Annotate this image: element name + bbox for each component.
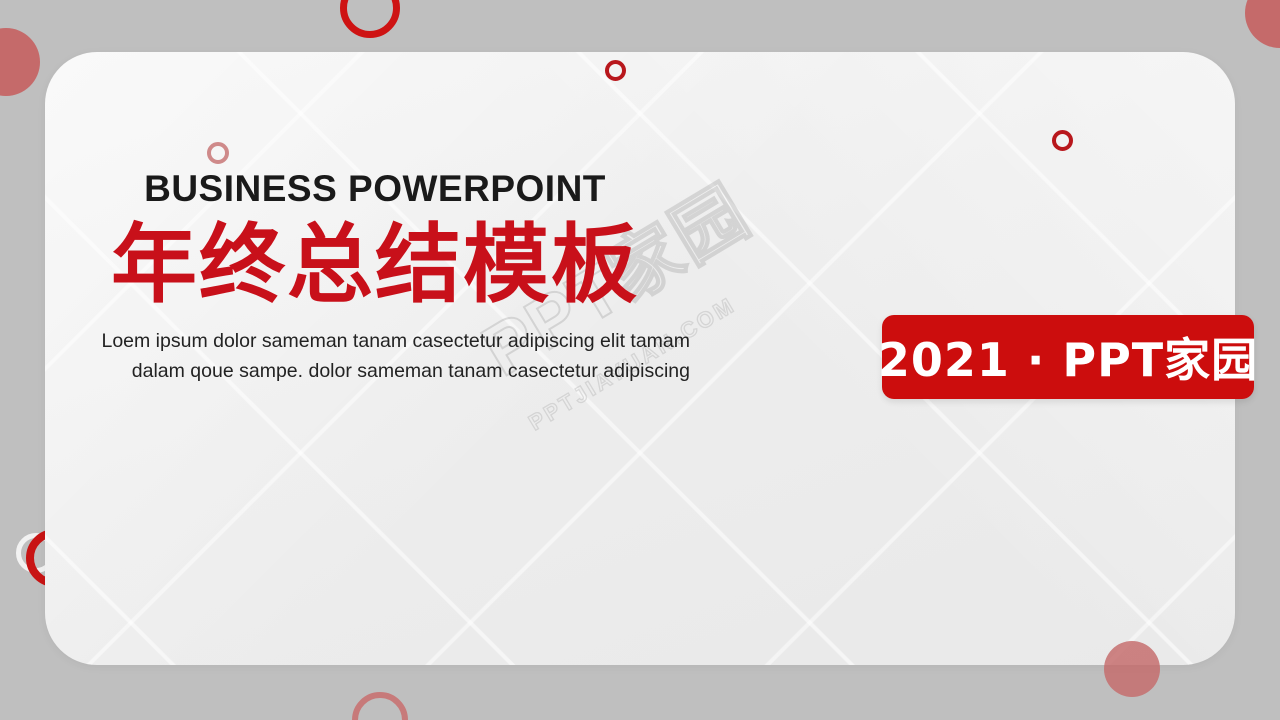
page-title: 年终总结模板 xyxy=(60,217,690,313)
description-text: Loem ipsum dolor sameman tanam casectetu… xyxy=(60,327,690,386)
decor-ring-card-top xyxy=(605,60,626,81)
decor-ring-top-center xyxy=(340,0,400,38)
presentation-slide: PPT家园 PPTJIAYUAN.COM BUSINESS POWERPOINT… xyxy=(0,0,1280,720)
year-badge-label: 2021 · PPT家园 xyxy=(878,324,1258,390)
headline-block: BUSINESS POWERPOINT 年终总结模板 Loem ipsum do… xyxy=(60,170,690,387)
decor-ring-card-left xyxy=(207,142,229,164)
eyebrow-text: BUSINESS POWERPOINT xyxy=(60,170,690,207)
year-badge[interactable]: 2021 · PPT家园 xyxy=(882,315,1254,399)
decor-circle-top-right xyxy=(1245,0,1280,48)
decor-ring-bottom-center xyxy=(352,692,408,720)
decor-ring-card-right xyxy=(1052,130,1073,151)
decor-circle-top-left xyxy=(0,28,40,96)
